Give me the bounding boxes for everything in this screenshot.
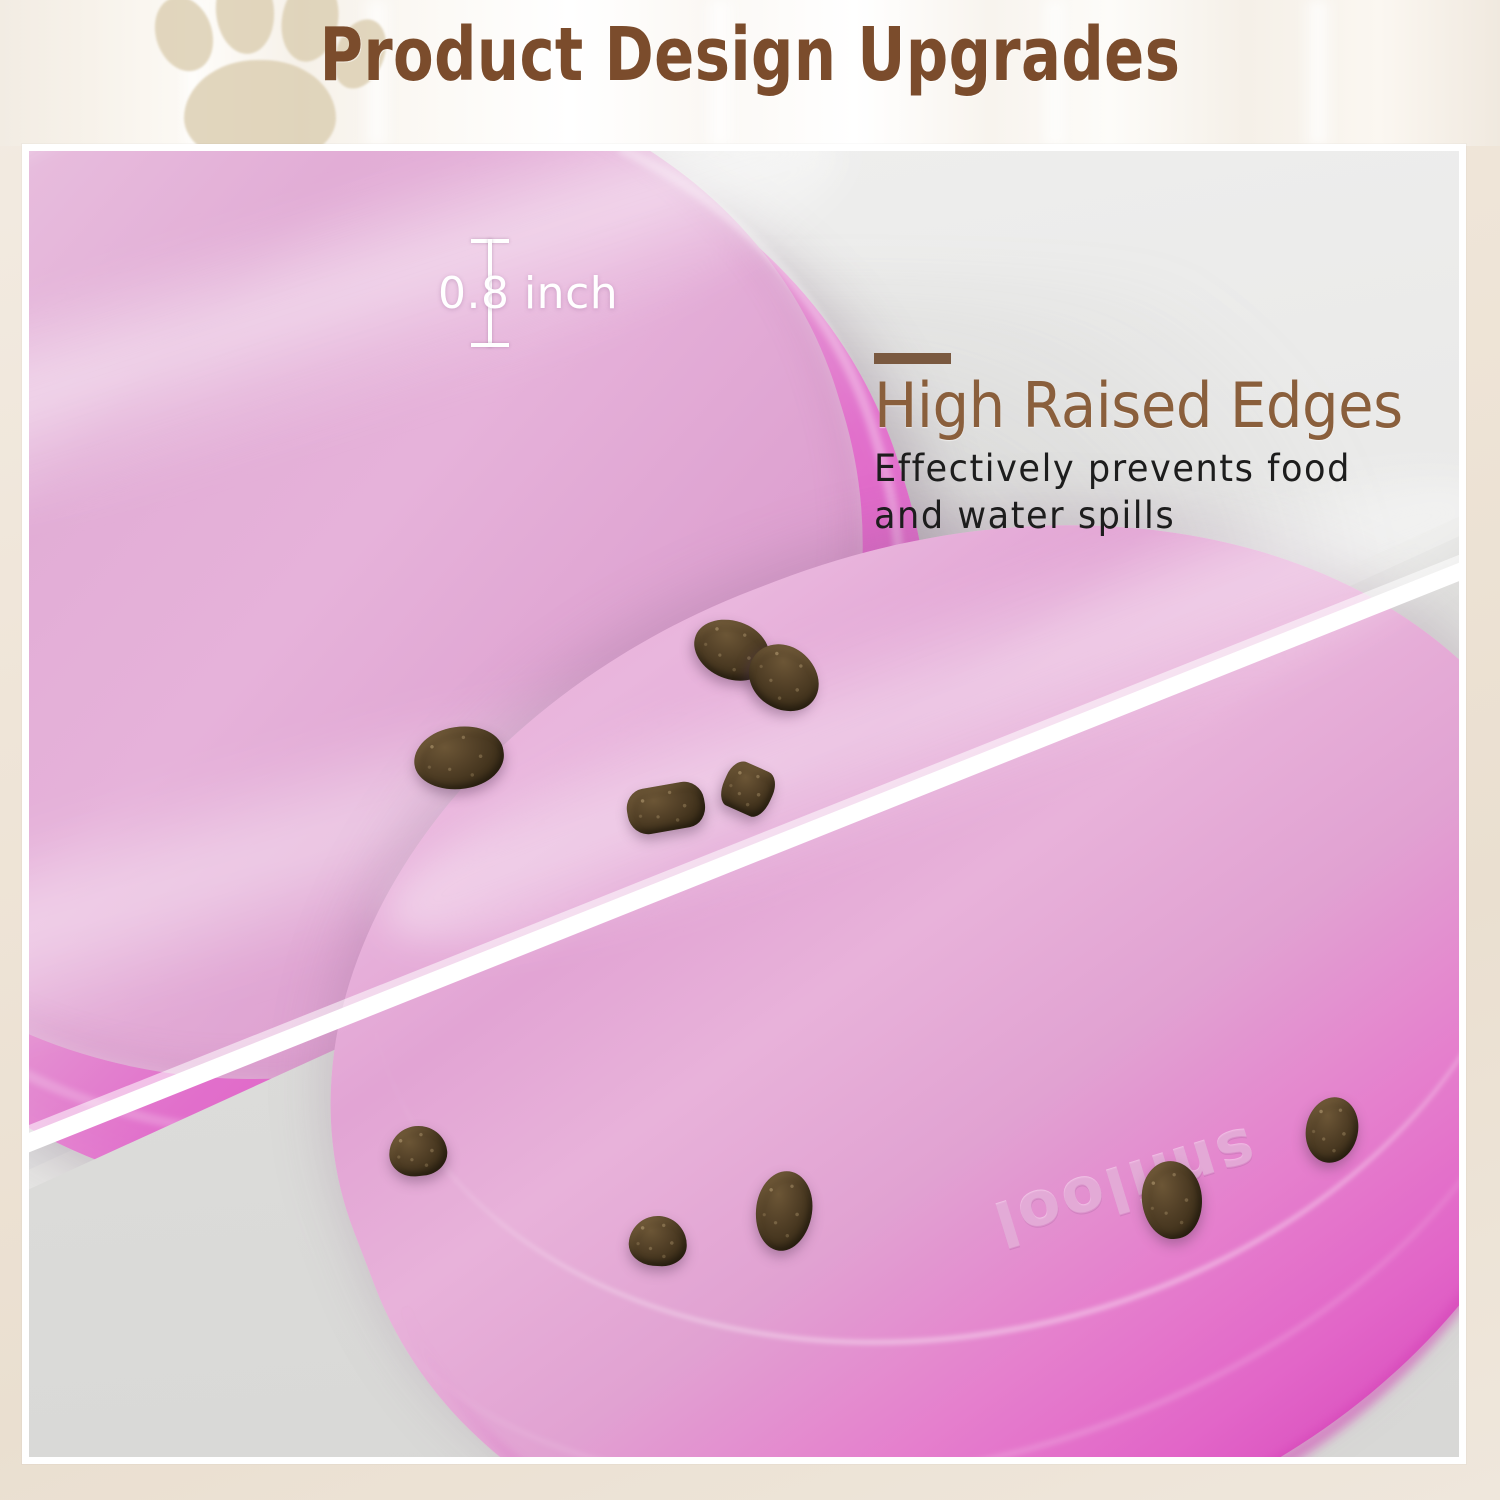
product-photo: smilool 0.8 inch High Raised Edges Effec… (29, 151, 1459, 1457)
product-photo-frame: smilool 0.8 inch High Raised Edges Effec… (22, 144, 1466, 1464)
feature-title: High Raised Edges (874, 374, 1403, 438)
accent-bar-icon (874, 353, 951, 364)
feature-high-raised-edges: High Raised Edges Effectively prevents f… (874, 353, 1442, 540)
product-infographic: Product Design Upgrades smilool (0, 0, 1500, 1500)
dimension-label: 0.8 inch (438, 268, 618, 319)
page-title: Product Design Upgrades (150, 18, 1350, 92)
feature-subtitle: Effectively prevents food and water spil… (874, 446, 1414, 539)
header-band: Product Design Upgrades (0, 0, 1500, 146)
